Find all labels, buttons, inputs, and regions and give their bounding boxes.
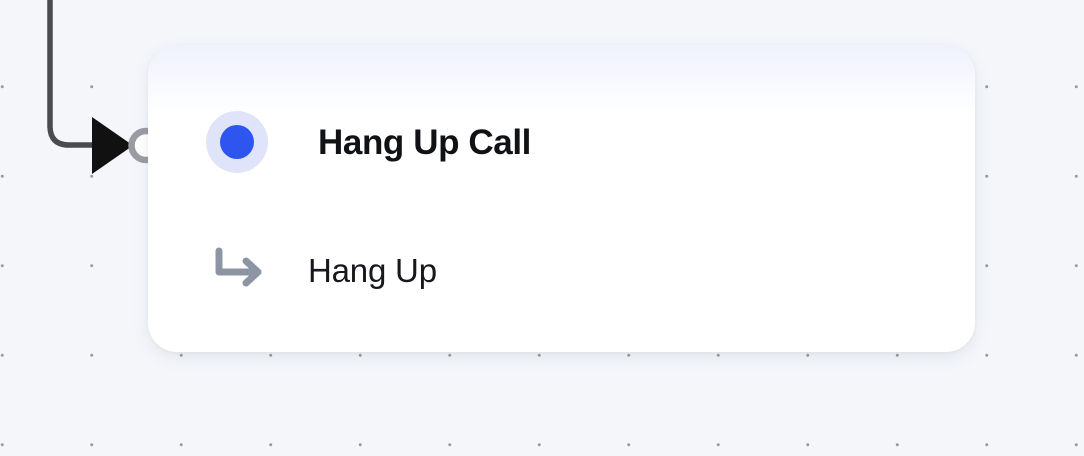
node-action-row[interactable]: Hang Up — [212, 245, 437, 295]
edge-arrowhead-icon — [92, 117, 133, 174]
flow-canvas[interactable]: Hang Up Call Hang Up — [0, 0, 1084, 456]
corner-down-right-arrow-icon — [212, 245, 270, 295]
node-header: Hang Up Call — [206, 111, 531, 173]
node-action-label: Hang Up — [308, 254, 437, 287]
node-title: Hang Up Call — [318, 125, 531, 160]
edge-path — [50, 0, 104, 145]
blue-dot-icon — [206, 111, 268, 173]
node-card-hang-up-call[interactable]: Hang Up Call Hang Up — [148, 45, 975, 352]
blue-dot-core — [220, 125, 254, 159]
